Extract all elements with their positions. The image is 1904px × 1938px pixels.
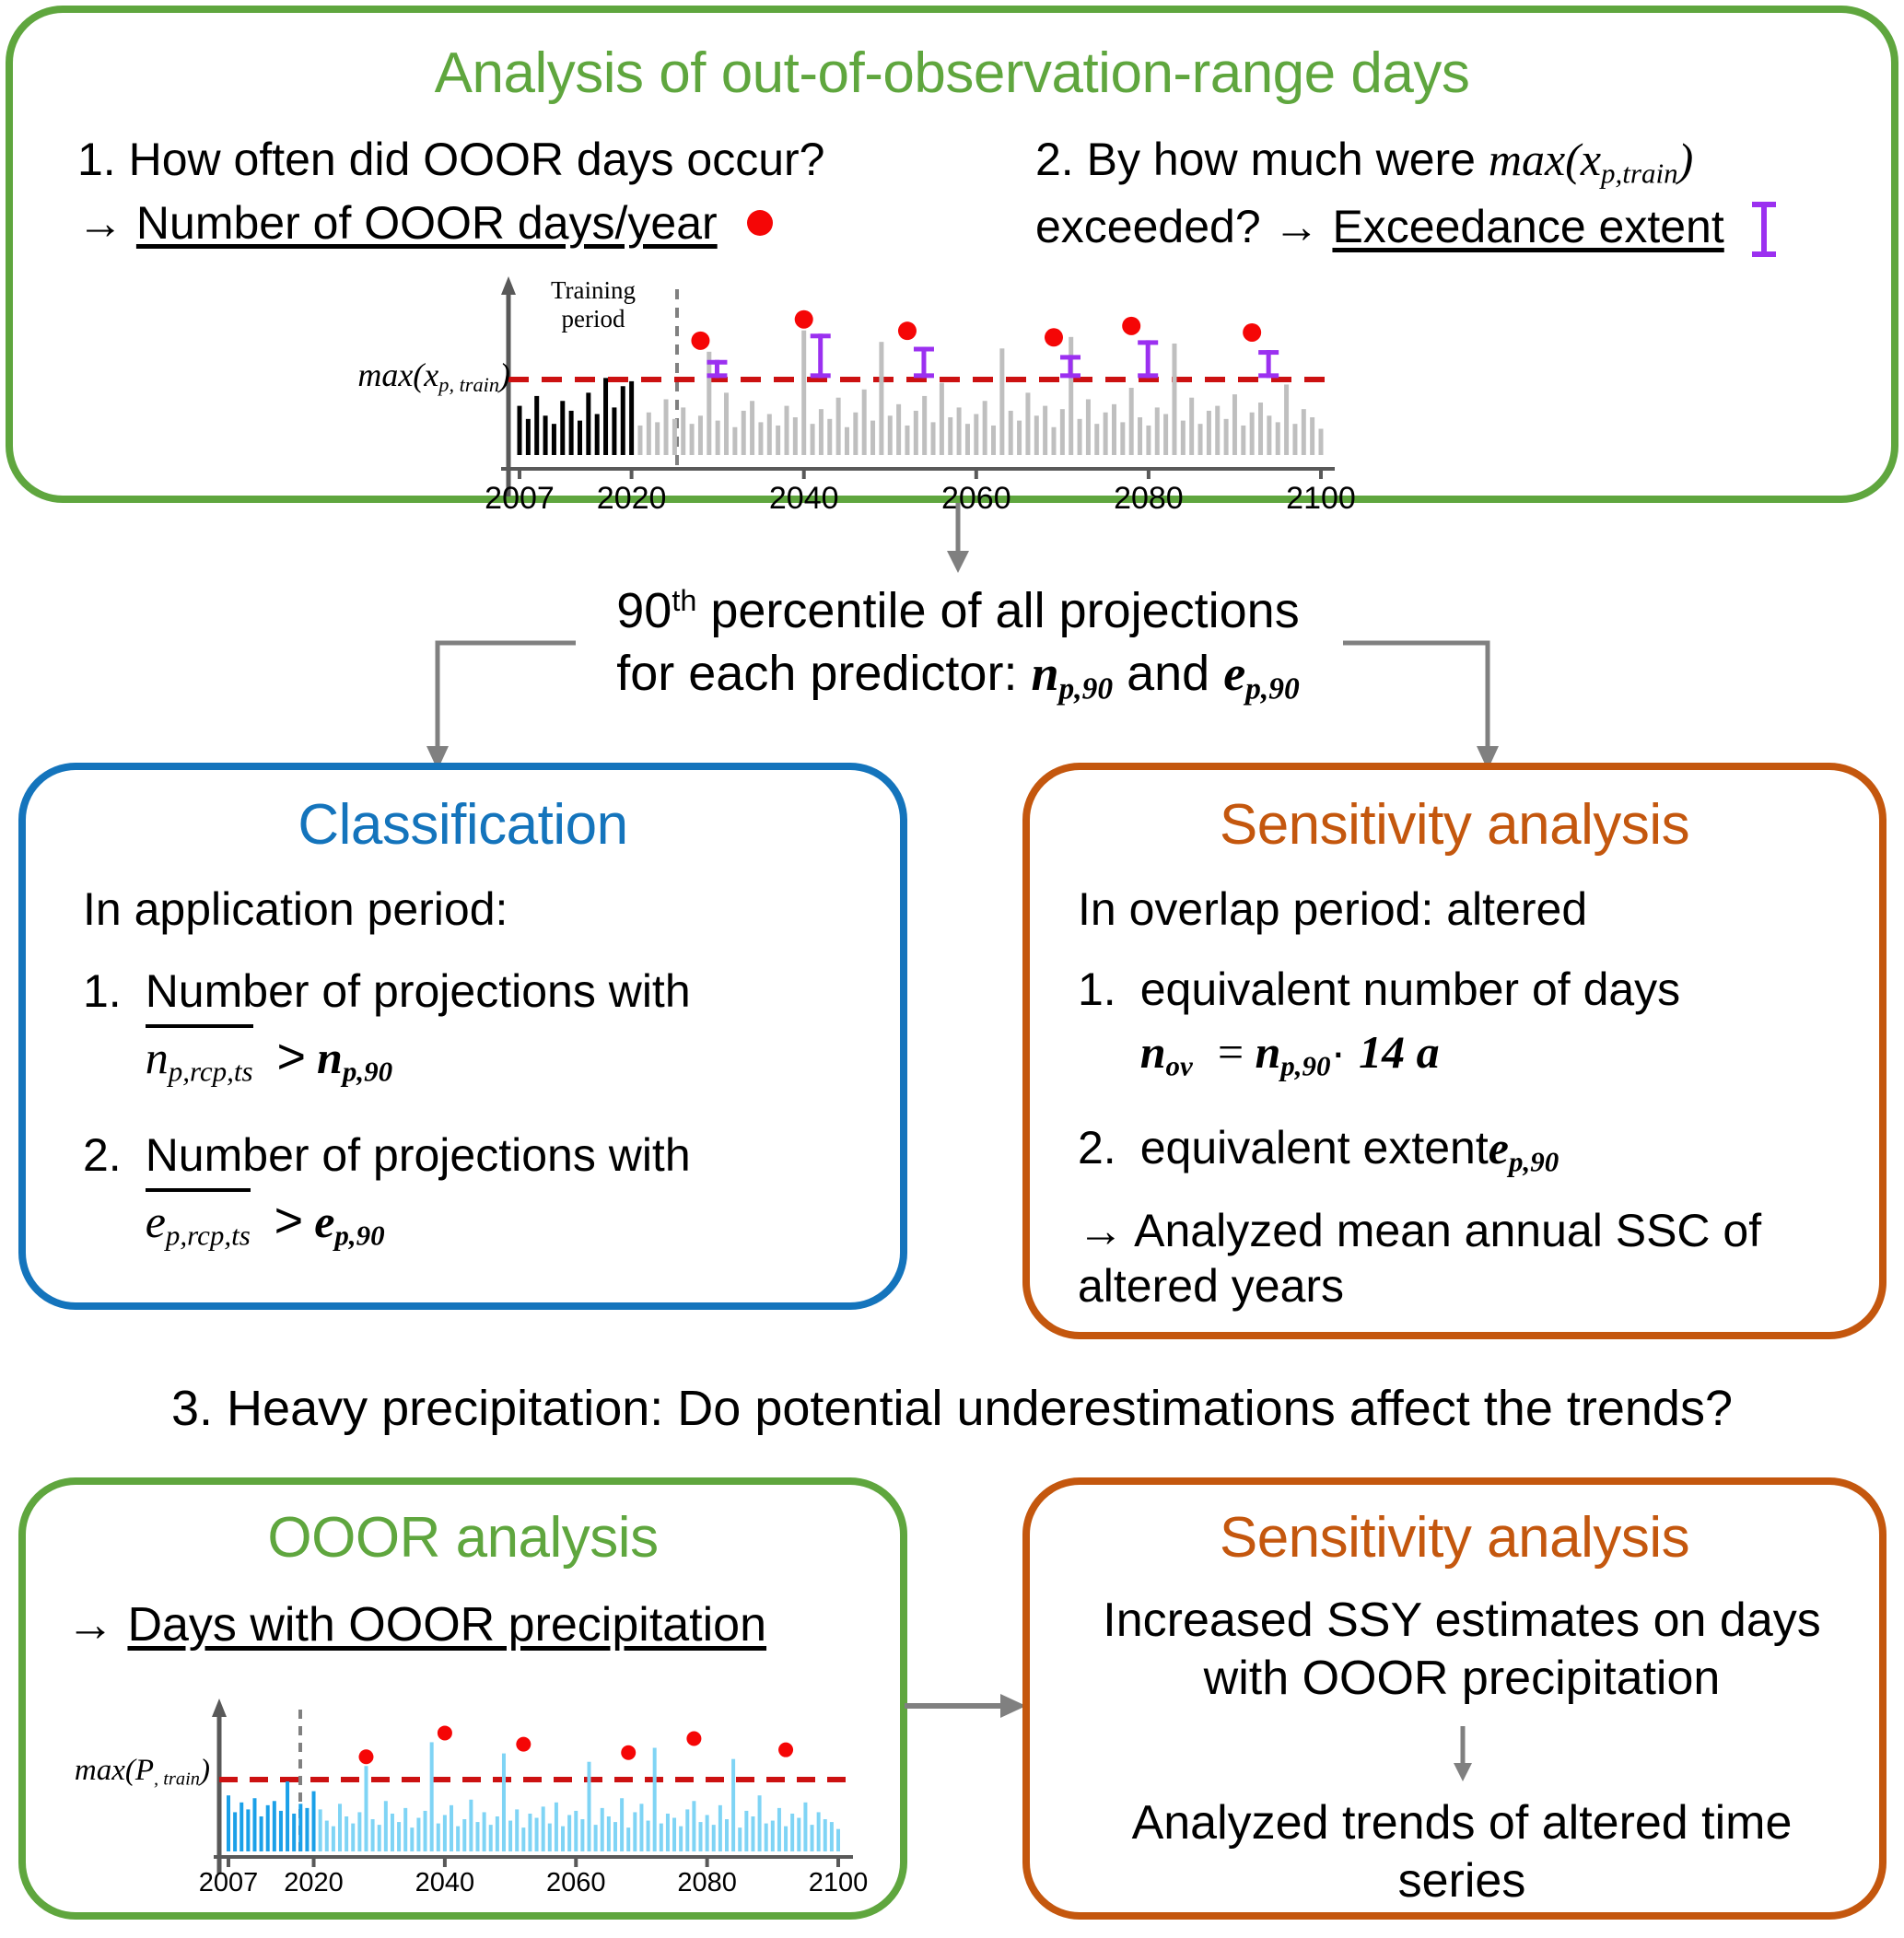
sensitivity-conclusion: → Analyzed mean annual SSC of altered ye…	[1078, 1203, 1861, 1313]
sensitivity-item-2: 2. equivalent extentep,90	[1078, 1120, 1861, 1179]
nov-subscript: ov	[1166, 1050, 1193, 1082]
sensitivity-item-2-number: 2.	[1078, 1120, 1116, 1179]
equals-sign: =	[1215, 1026, 1246, 1078]
xtick-label: 2080	[1093, 481, 1204, 517]
top-chart-ooor-markers	[691, 310, 1279, 379]
predictor-text: for each predictor:	[616, 646, 1031, 701]
formula-2-lhs-subscript: p,rcp,ts	[166, 1220, 251, 1252]
question-2-exceeded-text: exceeded?	[1035, 201, 1274, 252]
classification-item-1-number: 1.	[83, 963, 122, 1089]
formula-1-lhs-subscript: p,rcp,ts	[169, 1056, 253, 1088]
top-box-title: Analysis of out-of-observation-range day…	[13, 41, 1891, 106]
classification-box: Classification In application period: 1.…	[18, 763, 907, 1310]
percentile-ordinal: th	[672, 584, 696, 617]
xtick-label: 2040	[390, 1868, 500, 1898]
ep90-subscript: p,90	[1509, 1146, 1559, 1178]
formula-2-rhs-subscript: p,90	[334, 1220, 384, 1252]
arrow-glyph: →	[77, 197, 123, 249]
ooor-arrow-glyph: →	[66, 1598, 114, 1652]
xtick-label: 2100	[783, 1868, 894, 1898]
sensitivity-2-down-arrow	[1449, 1726, 1477, 1783]
sensitivity-2-line2: Analyzed trends of altered time series	[1072, 1794, 1851, 1911]
bottom-chart-xtick-labels: 200720202040206020802100	[136, 1861, 864, 1907]
top-chart-xtick-labels: 200720202040206020802100	[400, 473, 1349, 520]
nov-symbol: n	[1140, 1026, 1166, 1078]
training-period-annotation: Training period	[520, 276, 667, 333]
question-1: 1. How often did OOOR days occur? → Numb…	[77, 133, 980, 251]
down-arrow-head	[1454, 1763, 1472, 1781]
elbow-line-right	[1343, 643, 1488, 752]
connector-middle-to-classification	[424, 636, 580, 774]
sensitivity-analysis-box: Sensitivity analysis In overlap period: …	[1022, 763, 1886, 1339]
question-1-answer: Number of OOOR days/year	[136, 197, 718, 249]
sensitivity-item-1-formula: nov =np,90· 14 a	[1140, 1024, 1680, 1083]
xtick-label: 2020	[577, 481, 687, 517]
heavy-precipitation-heading: 3. Heavy precipitation: Do potential und…	[0, 1380, 1904, 1437]
xtick-label: 2020	[259, 1868, 369, 1898]
conclusion-text: Analyzed mean annual SSC of altered year…	[1078, 1205, 1761, 1312]
np90-symbol: n	[1255, 1026, 1280, 1078]
bottom-chart-ooor-markers	[358, 1725, 793, 1764]
question-2-line1: 2. By how much were max(xp,train)	[1035, 133, 1892, 191]
classification-item-1-formula: np,rcp,ts >np,90	[146, 1024, 691, 1089]
symbol-e: e	[1223, 646, 1245, 701]
formula-1-rhs-symbol: n	[317, 1032, 343, 1083]
question-1-line2: → Number of OOOR days/year	[77, 196, 980, 251]
middle-text-line2: for each predictor: np,90 and ep,90	[442, 643, 1474, 708]
max-function-paren: )	[1678, 134, 1694, 185]
top-box-ooor-analysis: Analysis of out-of-observation-range day…	[6, 6, 1898, 503]
classification-item-2-number: 2.	[83, 1127, 122, 1253]
question-2-answer: Exceedance extent	[1332, 201, 1723, 252]
max-function-subscript: p,train	[1601, 158, 1678, 190]
ooor-analysis-title: OOOR analysis	[26, 1505, 900, 1570]
arrow-glyph-2: →	[1274, 201, 1320, 252]
fourteen-years: 14 a	[1359, 1026, 1440, 1078]
elbow-line-left	[438, 643, 576, 752]
formula-1-rhs-subscript: p,90	[343, 1056, 392, 1088]
formula-2-lhs-symbol: e	[146, 1196, 166, 1247]
ooor-analysis-subtitle: → Days with OOOR precipitation	[66, 1597, 766, 1652]
classification-item-2-formula: ep,rcp,ts >ep,90	[146, 1188, 691, 1253]
xtick-label: 2080	[652, 1868, 763, 1898]
middle-text-line1: 90th percentile of all projections	[442, 580, 1474, 643]
top-chart: Training period max(xp, train) 200720202…	[400, 271, 1349, 501]
connector-middle-to-sensitivity	[1336, 636, 1501, 774]
classification-intro: In application period:	[83, 882, 508, 936]
sensitivity-item-2-text: equivalent extent	[1140, 1122, 1489, 1173]
sensitivity-item-1: 1. equivalent number of days nov =np,90·…	[1078, 962, 1861, 1083]
ooor-analysis-box: OOOR analysis → Days with OOOR precipita…	[18, 1477, 907, 1920]
sensitivity-title: Sensitivity analysis	[1030, 792, 1879, 858]
classification-item-2: 2. Number of projections with ep,rcp,ts …	[83, 1127, 857, 1253]
conclusion-arrow-glyph: →	[1078, 1205, 1124, 1256]
sensitivity-item-1-number: 1.	[1078, 962, 1116, 1083]
xtick-label: 2007	[464, 481, 575, 517]
max-function-label: max(x	[1489, 134, 1601, 185]
purple-ibeam-icon	[1752, 202, 1776, 257]
conjunction-and: and	[1113, 646, 1223, 701]
formula-1-lhs-symbol: n	[146, 1032, 169, 1083]
multiply-dot: ·	[1331, 1026, 1347, 1078]
ooor-subtitle-text: Days with OOOR precipitation	[127, 1598, 766, 1652]
bottom-y-axis-arrowhead	[212, 1699, 227, 1717]
classification-title: Classification	[26, 792, 900, 858]
np90-subscript: p,90	[1280, 1050, 1330, 1082]
formula-2-operator: >	[275, 1193, 304, 1248]
sensitivity-item-1-text: equivalent number of days	[1140, 962, 1680, 1017]
symbol-n: n	[1031, 646, 1058, 701]
formula-2-rhs-symbol: e	[314, 1196, 334, 1247]
question-2-prefix: 2. By how much were	[1035, 134, 1489, 185]
y-axis-arrowhead	[501, 276, 516, 295]
symbol-e-subscript: p,90	[1245, 671, 1300, 706]
classification-item-1: 1. Number of projections with np,rcp,ts …	[83, 963, 857, 1089]
bottom-chart-bars	[227, 1742, 840, 1851]
classification-item-2-text: Number of projections with	[146, 1127, 691, 1183]
sensitivity-2-title: Sensitivity analysis	[1030, 1505, 1879, 1570]
question-2: 2. By how much were max(xp,train) exceed…	[1035, 133, 1892, 257]
top-chart-ylabel: max(xp, train)	[298, 356, 510, 397]
bottom-chart-ylabel: max(P, train)	[35, 1754, 210, 1791]
xtick-label: 2100	[1266, 481, 1376, 517]
connector-top-to-middle	[930, 503, 986, 577]
red-dot-icon	[747, 210, 773, 236]
percentile-number: 90	[616, 583, 672, 638]
connector-arrowhead	[947, 551, 969, 573]
sensitivity-intro: In overlap period: altered	[1078, 882, 1587, 936]
middle-text-block: 90th percentile of all projections for e…	[442, 580, 1474, 708]
xtick-label: 2040	[749, 481, 859, 517]
question-2-line2: exceeded? → Exceedance extent	[1035, 200, 1892, 257]
xtick-label: 2060	[520, 1868, 631, 1898]
sensitivity-analysis-box-2: Sensitivity analysis Increased SSY estim…	[1022, 1477, 1886, 1920]
connector-ooor-to-sensitivity2	[903, 1687, 1032, 1724]
classification-item-1-text: Number of projections with	[146, 963, 691, 1019]
sensitivity-2-line1: Increased SSY estimates on days with OOO…	[1072, 1592, 1851, 1709]
bottom-chart: max(P, train) 200720202040206020802100	[136, 1693, 864, 1914]
ep90-symbol: e	[1489, 1122, 1509, 1173]
formula-1-operator: >	[276, 1029, 306, 1084]
percentile-text: percentile of all projections	[696, 583, 1299, 638]
question-1-line1: 1. How often did OOOR days occur?	[77, 133, 980, 187]
symbol-n-subscript: p,90	[1059, 671, 1114, 706]
